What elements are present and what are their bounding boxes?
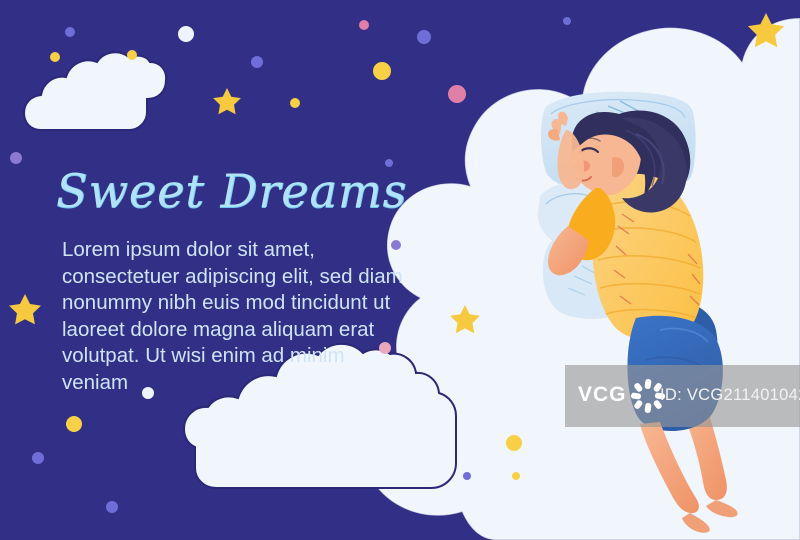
dot-yellow-7 xyxy=(512,472,520,480)
page-title: Sweet Dreams xyxy=(56,168,416,215)
dot-yellow-5 xyxy=(66,416,82,432)
dot-purple-9 xyxy=(106,501,118,513)
dot-yellow-6 xyxy=(506,435,522,451)
dot-purple-4 xyxy=(563,17,571,25)
vcg-logo: VCG xyxy=(578,383,627,407)
dot-pink-1 xyxy=(359,20,369,30)
dot-yellow-3 xyxy=(373,62,391,80)
dot-yellow-1 xyxy=(50,52,60,62)
text-block: Sweet Dreams Lorem ipsum dolor sit amet,… xyxy=(46,168,416,397)
body-paragraph: Lorem ipsum dolor sit amet, consectetuer… xyxy=(62,237,414,397)
dot-purple-10 xyxy=(463,472,471,480)
star-upper-left xyxy=(213,88,241,114)
illustration-canvas: Sweet Dreams Lorem ipsum dolor sit amet,… xyxy=(0,0,800,540)
cloud-top-left xyxy=(24,52,166,130)
dot-purple-2 xyxy=(251,56,263,68)
dot-yellow-4 xyxy=(290,98,300,108)
star-left-mid xyxy=(9,294,41,324)
dot-pink-2 xyxy=(448,85,466,103)
watermark-id: ID: VCG211401042716 xyxy=(660,386,800,405)
dot-purple-5 xyxy=(10,152,22,164)
dot-yellow-2 xyxy=(127,50,137,60)
dot-white-1 xyxy=(178,26,194,42)
dot-purple-8 xyxy=(32,452,44,464)
dot-purple-1 xyxy=(65,27,75,37)
dot-purple-3 xyxy=(417,30,431,44)
